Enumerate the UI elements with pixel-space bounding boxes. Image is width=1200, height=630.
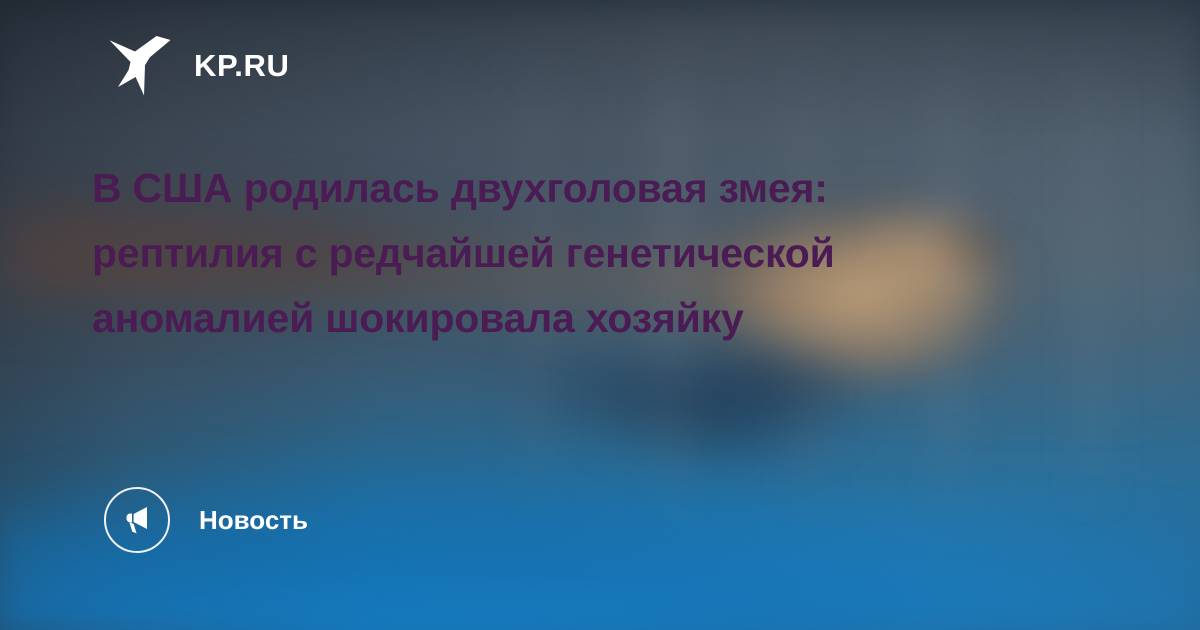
brand-lockup[interactable]: KP.RU — [108, 34, 289, 96]
card-content: KP.RU В США родилась двухголовая змея: р… — [0, 0, 1200, 630]
megaphone-icon — [121, 504, 153, 536]
badge-circle — [104, 487, 170, 553]
swallow-bird-icon — [108, 34, 172, 96]
badge-label: Новость — [199, 507, 308, 533]
headline: В США родилась двухголовая змея: рептили… — [92, 156, 992, 351]
brand-wordmark: KP.RU — [194, 50, 289, 81]
news-badge[interactable]: Новость — [104, 487, 308, 553]
share-card: KP.RU В США родилась двухголовая змея: р… — [0, 0, 1200, 630]
